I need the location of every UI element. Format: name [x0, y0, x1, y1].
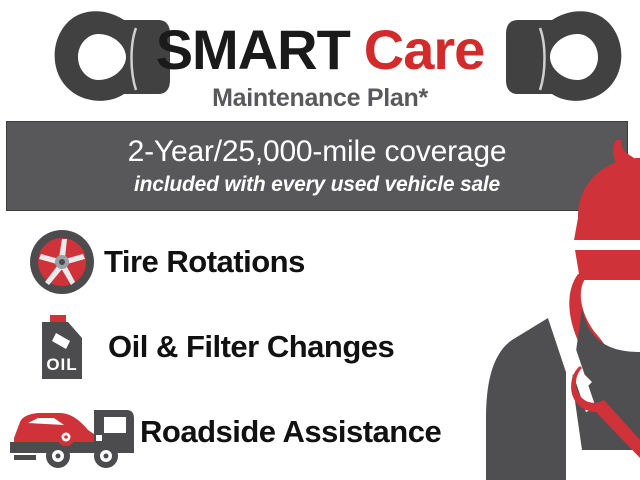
feature-label: Oil & Filter Changes	[108, 307, 394, 387]
brand-word-smart: SMART	[156, 18, 350, 81]
promo-graphic: SMARTCare Maintenance Plan* 2-Year/25,00…	[0, 0, 640, 480]
svg-text:OIL: OIL	[46, 355, 77, 374]
list-item: Tire Rotations	[0, 222, 470, 307]
header: SMARTCare Maintenance Plan*	[0, 0, 640, 118]
coverage-headline: 2-Year/25,000-mile coverage	[128, 135, 507, 169]
oil-bottle-icon: OIL	[26, 307, 98, 387]
page-title: SMARTCare	[0, 22, 640, 78]
tow-truck-icon	[8, 392, 138, 472]
brand-subtitle: Maintenance Plan*	[0, 84, 640, 113]
tire-wheel-icon	[26, 222, 98, 302]
coverage-subline: included with every used vehicle sale	[134, 173, 500, 197]
list-item: OIL Oil & Filter Changes	[0, 307, 470, 392]
list-item: Roadside Assistance	[0, 392, 470, 477]
mechanic-with-wrench-illustration	[470, 140, 640, 480]
feature-list: Tire Rotations OIL Oil & Filter Changes	[0, 222, 470, 477]
brand-word-care: Care	[364, 18, 485, 81]
feature-label: Tire Rotations	[104, 222, 305, 302]
feature-label: Roadside Assistance	[140, 392, 441, 472]
